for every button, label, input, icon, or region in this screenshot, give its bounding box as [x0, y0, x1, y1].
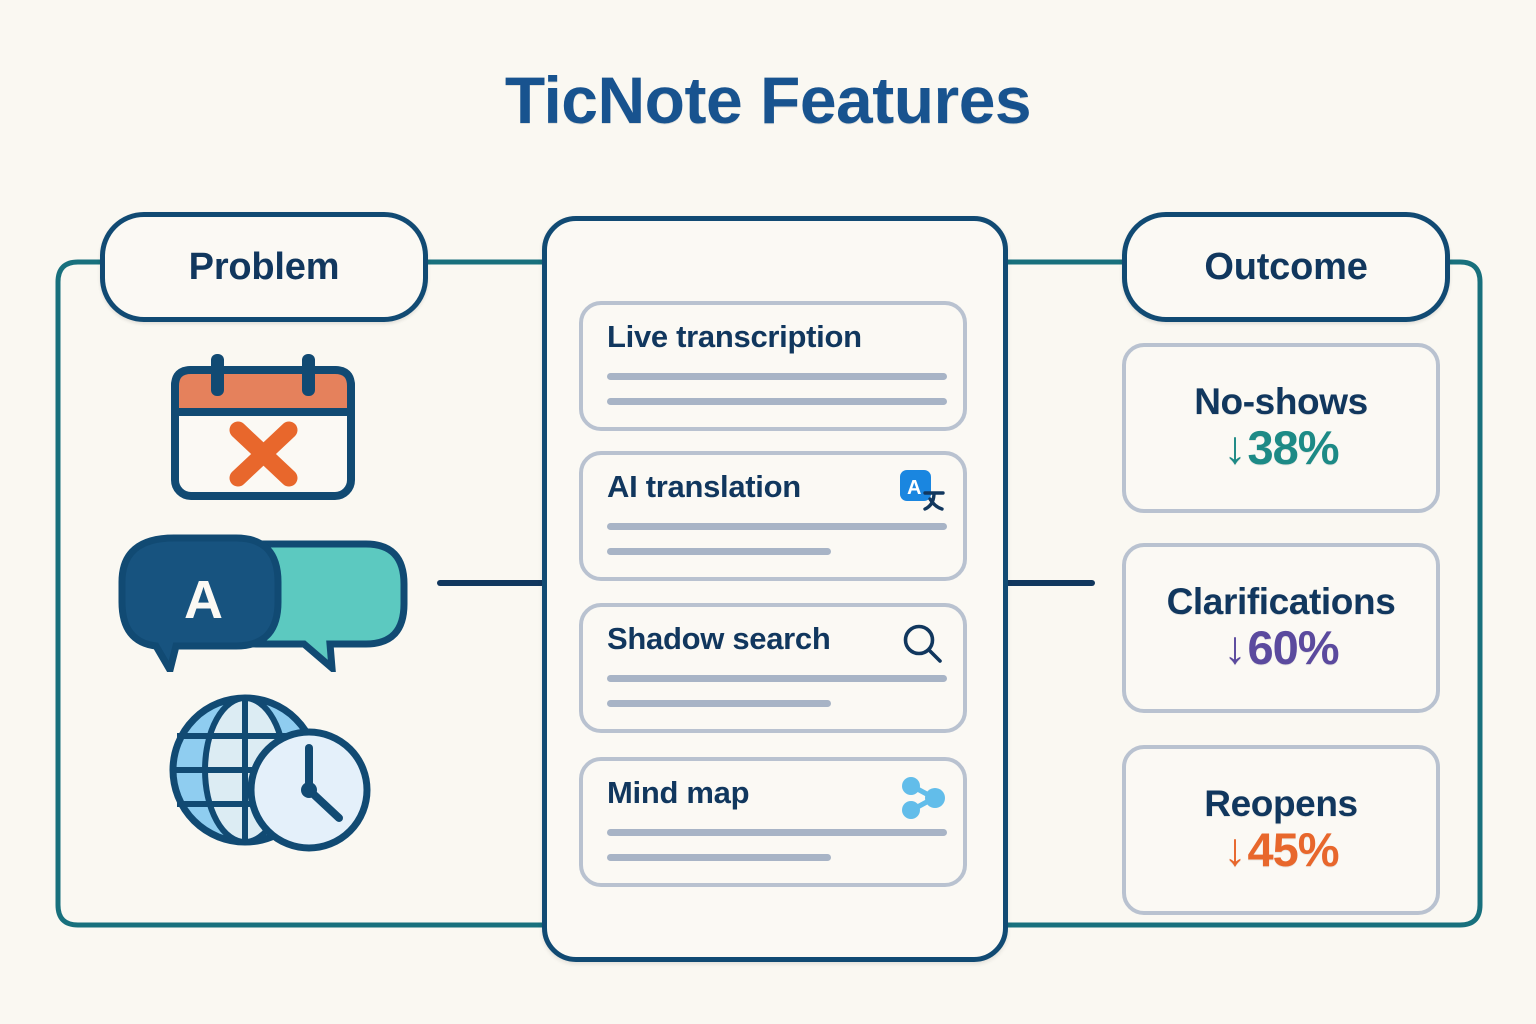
- outcome-label: Reopens: [1204, 785, 1357, 824]
- placeholder-line: [607, 700, 831, 707]
- globe-clock-icon: [165, 692, 377, 852]
- feature-placeholder-lines: [607, 675, 947, 725]
- outcome-value: 45%: [1247, 824, 1338, 876]
- outcome-card[interactable]: Reopens ↓ 45%: [1122, 745, 1440, 915]
- placeholder-line: [607, 548, 831, 555]
- placeholder-line: [607, 675, 947, 682]
- svg-text:A: A: [907, 477, 921, 499]
- infographic-canvas: TicNote Features Problem A: [0, 0, 1536, 1024]
- outcome-value: 38%: [1247, 422, 1338, 474]
- problem-pill-label: Problem: [189, 246, 340, 289]
- share-nodes-icon[interactable]: [899, 775, 945, 821]
- feature-label: AI translation: [607, 469, 801, 505]
- feature-row[interactable]: Mind map: [579, 757, 967, 887]
- outcome-value: 60%: [1247, 622, 1338, 674]
- placeholder-line: [607, 523, 947, 530]
- feature-label: Live transcription: [607, 319, 862, 355]
- feature-row[interactable]: Live transcription: [579, 301, 967, 431]
- outcome-card[interactable]: No-shows ↓ 38%: [1122, 343, 1440, 513]
- outcome-label: Clarifications: [1167, 583, 1396, 622]
- placeholder-line: [607, 373, 947, 380]
- outcome-pill[interactable]: Outcome: [1122, 212, 1450, 322]
- feature-placeholder-lines: [607, 373, 947, 423]
- arrow-down-icon: ↓: [1223, 826, 1245, 872]
- speech-bubbles-icon: A: [118, 532, 408, 672]
- search-icon[interactable]: [899, 621, 945, 667]
- page-title: TicNote Features: [0, 62, 1536, 138]
- calendar-x-icon: [165, 350, 361, 506]
- outcome-pill-label: Outcome: [1204, 246, 1367, 289]
- feature-row[interactable]: Shadow search: [579, 603, 967, 733]
- placeholder-line: [607, 829, 947, 836]
- translate-badge-icon[interactable]: A: [899, 469, 945, 515]
- svg-text:A: A: [184, 570, 223, 630]
- feature-row[interactable]: AI translation A: [579, 451, 967, 581]
- placeholder-line: [607, 398, 947, 405]
- problem-pill[interactable]: Problem: [100, 212, 428, 322]
- outcome-value-row: ↓ 38%: [1223, 422, 1338, 474]
- feature-label: Mind map: [607, 775, 749, 811]
- feature-label: Shadow search: [607, 621, 831, 657]
- arrow-down-icon: ↓: [1223, 424, 1245, 470]
- feature-placeholder-lines: [607, 523, 947, 573]
- arrow-down-icon: ↓: [1223, 624, 1245, 670]
- outcome-label: No-shows: [1194, 383, 1368, 422]
- outcome-card[interactable]: Clarifications ↓ 60%: [1122, 543, 1440, 713]
- outcome-value-row: ↓ 60%: [1223, 622, 1338, 674]
- placeholder-line: [607, 854, 831, 861]
- feature-placeholder-lines: [607, 829, 947, 879]
- outcome-value-row: ↓ 45%: [1223, 824, 1338, 876]
- features-card: Live transcription AI translation A Shad…: [542, 216, 1008, 962]
